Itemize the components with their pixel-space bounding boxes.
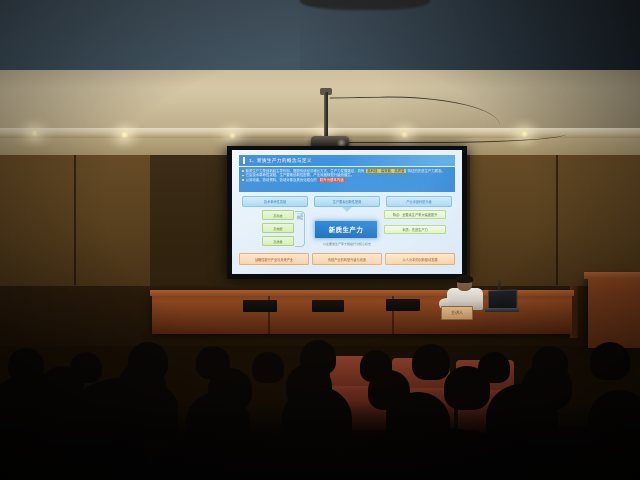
projector-pole xyxy=(324,92,328,140)
audience-head xyxy=(532,346,568,380)
slide-green-box: 高质量 xyxy=(262,236,294,246)
nameplate-holder xyxy=(243,300,277,312)
ceiling-shadow xyxy=(300,0,640,72)
bullet-dot-icon xyxy=(242,170,244,172)
foreground-shadow xyxy=(0,400,640,480)
slide-pill-row: 技术革命性突破 生产要素创新性配置 产业深度转型升级 xyxy=(242,196,452,207)
wall-seam xyxy=(74,155,76,285)
bullet-dot-icon xyxy=(242,175,244,177)
slide-bottom-row: 战略性新兴产业与未来产业 传统产业的转型升级与改造 以人为本的创新驱动发展 xyxy=(239,253,455,265)
bullet-text: 以劳动者、劳动资料、劳动对象及其优化组合的 xyxy=(246,178,317,183)
slide-green-box: 高科技 xyxy=(262,210,294,220)
slide-title-bar: 1、新质生产力的概念与定义 xyxy=(239,155,455,166)
lecture-hall-photo: 1、新质生产力的概念与定义 新质生产力是创新起主导作用，摆脱传统经济增长方式、生… xyxy=(0,0,640,480)
bullet-dot-icon xyxy=(242,179,244,181)
nameplate-holder xyxy=(312,300,344,312)
down-arrow-icon xyxy=(342,207,352,212)
presentation-slide: 1、新质生产力的概念与定义 新质生产力是创新起主导作用，摆脱传统经济增长方式、生… xyxy=(232,150,462,274)
slide-pill: 产业深度转型升级 xyxy=(386,196,452,207)
slide-green-box: 高效能 xyxy=(262,223,294,233)
slide-pill: 技术革命性突破 xyxy=(242,196,308,207)
ceiling-spotlight-3 xyxy=(228,132,237,139)
slide-bottom-box: 以人为本的创新驱动发展 xyxy=(385,253,455,265)
slide-title: 1、新质生产力的概念与定义 xyxy=(249,158,312,164)
ceiling-spotlight-2 xyxy=(120,131,129,138)
lectern-top xyxy=(584,272,640,279)
audience-head xyxy=(8,348,44,382)
audience-head xyxy=(196,346,230,379)
audience-head xyxy=(128,342,168,380)
title-tick-icon xyxy=(243,157,245,164)
wall-panel-right xyxy=(470,155,640,290)
audience-head xyxy=(70,352,102,383)
slide-pill: 生产要素创新性配置 xyxy=(314,196,380,207)
wall-seam xyxy=(556,155,558,285)
slide-bullet-row: 以劳动者、劳动资料、劳动对象及其优化组合的 跃升为基本内涵 xyxy=(242,178,452,183)
slide-center-box: 新质生产力 xyxy=(314,220,378,239)
brace-label: 三高特征 xyxy=(297,214,303,221)
ceiling-spotlight-1 xyxy=(30,129,39,136)
slide-bullet-band: 新质生产力是创新起主导作用，摆脱传统经济增长方式、生产力发展路径，具有 高科技、… xyxy=(239,167,455,192)
microphone-icon xyxy=(497,280,501,283)
slide-green-column: 高科技 高效能 高质量 xyxy=(262,210,294,246)
nameplate-holder xyxy=(386,299,420,311)
presenter-nameplate: 主讲人 xyxy=(441,306,473,320)
projection-screen: 1、新质生产力的概念与定义 新质生产力是创新起主导作用，摆脱传统经济增长方式、生… xyxy=(232,150,462,274)
bullet-text-tail: 特征的先进生产力质态。 xyxy=(408,169,445,174)
slide-right-box: 本质：先进生产力 xyxy=(384,225,446,234)
audience-head xyxy=(252,352,284,383)
slide-right-box: 特点：全要素生产率大幅度提升 xyxy=(384,210,446,219)
laptop-base xyxy=(485,308,519,312)
presenter-hair xyxy=(456,275,473,283)
slide-bottom-box: 传统产业的转型升级与改造 xyxy=(312,253,382,265)
slide-center-caption: 以全要素生产率大幅提升为核心标志 xyxy=(302,242,392,246)
slide-bottom-box: 战略性新兴产业与未来产业 xyxy=(239,253,309,265)
slide-right-column: 特点：全要素生产率大幅度提升 本质：先进生产力 xyxy=(384,210,446,234)
bullet-highlight: 跃升为基本内涵 xyxy=(319,178,345,183)
lectern xyxy=(588,276,640,348)
bullet-highlight: 高科技、高效能、高质量 xyxy=(366,169,405,174)
